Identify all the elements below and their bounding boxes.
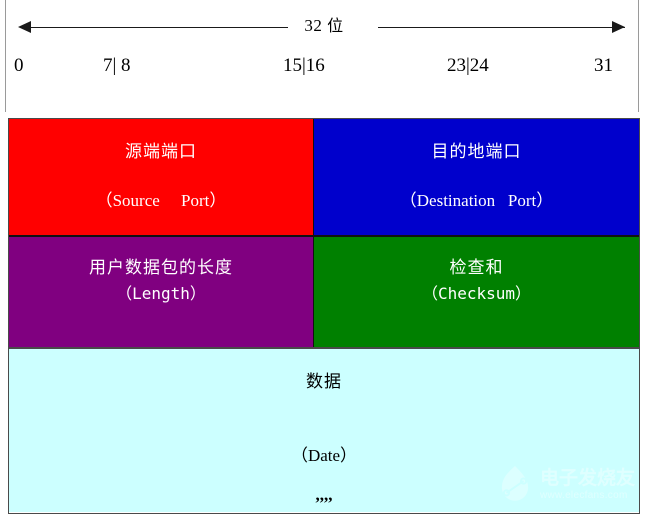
watermark-url: www.elecfans.com — [540, 491, 635, 501]
ports-row: 源端端口 （Source Port） 目的地端口 （Destination Po… — [9, 119, 639, 235]
bit-ruler: 0 7| 8 15|16 23|24 31 — [0, 55, 648, 81]
checksum-field: 检查和 （Checksum） — [314, 237, 639, 347]
bit-tick-7-8: 7| 8 — [103, 55, 131, 77]
watermark-brand: 电子发烧友 — [540, 469, 635, 488]
data-field: 数据 （Date） ,,,, 电子发烧友 www.elecfans.com — [9, 349, 639, 512]
data-label-en: （Date） — [291, 447, 357, 466]
bit-tick-15-16: 15|16 — [283, 55, 325, 77]
source-port-label-cn: 源端端口 — [125, 143, 197, 162]
length-field: 用户数据包的长度 （Length） — [9, 237, 314, 347]
bit-tick-0: 0 — [14, 55, 24, 77]
data-label-cn: 数据 — [306, 373, 342, 392]
source-port-field: 源端端口 （Source Port） — [9, 119, 314, 235]
bit-width-label: 32 位 — [0, 12, 648, 36]
bit-tick-23-24: 23|24 — [447, 55, 489, 77]
destination-port-field: 目的地端口 （Destination Port） — [314, 119, 639, 235]
length-label-cn: 用户数据包的长度 — [89, 259, 233, 278]
length-label-en: （Length） — [116, 285, 206, 303]
meta-row: 用户数据包的长度 （Length） 检查和 （Checksum） — [9, 235, 639, 347]
packet-structure: 源端端口 （Source Port） 目的地端口 （Destination Po… — [8, 118, 640, 514]
udp-packet-diagram: 32 位 0 7| 8 15|16 23|24 31 源端端口 （Source … — [0, 0, 648, 524]
elecfans-logo-icon — [494, 464, 536, 506]
bit-width-unit: 位 — [327, 16, 344, 35]
bit-width-number: 32 — [304, 16, 322, 35]
checksum-label-cn: 检查和 — [450, 259, 504, 278]
checksum-label-en: （Checksum） — [422, 285, 531, 303]
source-port-label-en: （Source Port） — [96, 192, 227, 211]
destination-port-label-cn: 目的地端口 — [432, 143, 522, 162]
bit-tick-31: 31 — [594, 55, 613, 77]
data-row: 数据 （Date） ,,,, 电子发烧友 www.elecfans.com — [9, 347, 639, 512]
destination-port-label-en: （Destination Port） — [400, 192, 553, 211]
site-watermark: 电子发烧友 www.elecfans.com — [494, 464, 635, 506]
data-ellipsis-marks: ,,,, — [316, 485, 333, 505]
watermark-text: 电子发烧友 www.elecfans.com — [540, 469, 635, 501]
